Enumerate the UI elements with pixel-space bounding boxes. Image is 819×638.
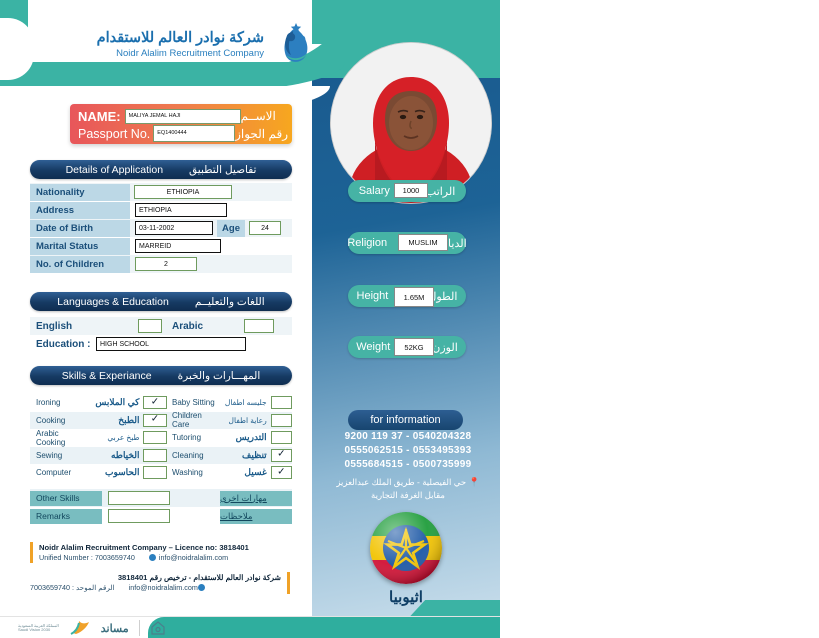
table-row-skill: Arabic Cooking طبخ عربي Tutoring التدريس [30,429,292,447]
nationality-input[interactable]: ETHIOPIA [134,185,232,199]
marital-label: Marital Status [30,238,130,255]
vision-2030-icon [69,620,91,636]
footer-email-text: info@noidralalim.com [159,553,228,562]
skill-computer-label-ar: الحاسوب [85,467,143,478]
email-icon [198,584,205,591]
company-name-en: Noidr Alalim Recruitment Company [78,48,264,59]
footer-contact-ar: info@noidralalim.com الرقم الموحد : 7003… [30,583,281,593]
weight-pill: Weight الوزن 52KG [348,336,466,358]
footer-email-en[interactable]: info@noidralalim.com [149,553,228,563]
address-text-1: حي الفيصلية - طريق الملك عبدالعزيز [336,477,466,487]
skill-cleaning-label-ar: تنظيف [221,450,271,461]
office-address-line-2: مقابل الغرفة التجارية [322,489,494,501]
table-row-skill: Computer الحاسوب Washing غسيل ✓ [30,464,292,482]
footer-english: Noidr Alalim Recruitment Company – Licen… [30,542,290,563]
age-label: Age [217,220,245,237]
footer: Noidr Alalim Recruitment Company – Licen… [30,542,290,594]
table-row-dob: Date of Birth 03-11-2002 Age 24 [30,219,292,237]
table-row-children: No. of Children 2 [30,255,292,273]
check-icon: ✓ [151,397,159,407]
arabic-label: Arabic [162,318,244,335]
height-label: Height [357,290,389,302]
name-band: NAME: MALIYA JEMAL HAJI الاســم Passport… [70,104,292,144]
musaned-label-ar: مساند [101,622,129,635]
applicant-photo-image [331,43,491,203]
skill-cooking-checkbox[interactable]: ✓ [143,414,166,427]
contact-phones: 9200 119 37 - 0540204328 0555062515 - 05… [322,430,494,501]
passport-label-ar: رقم الجواز [235,127,292,141]
languages-title-ar: اللغات والتعليــم [195,296,265,308]
marital-input[interactable]: MARREID [135,239,221,253]
company-logo: شركة نوادر العالم للاستقدام Noidr Alalim… [78,22,318,68]
cv-document: شركة نوادر العالم للاستقدام Noidr Alalim… [0,0,819,638]
footer-unified-en: Unified Number : 7003659740 [39,553,135,563]
passport-row: Passport No. EQ1400444 رقم الجواز [70,125,292,142]
for-information-header: for information [348,410,463,430]
salary-pill: Salary الراتب 1000 [348,180,466,202]
office-address-line-1: 📍 حي الفيصلية - طريق الملك عبدالعزيز [322,476,494,489]
location-pin-icon: 📍 [468,476,479,489]
skill-washing-label: Washing [170,468,221,477]
skill-childrencare-label: Children Care [170,411,221,429]
dob-label: Date of Birth [30,220,130,237]
details-title-en: Details of Application [66,164,163,176]
skill-tutoring-label: Tutoring [170,433,221,442]
strip-logos: المملكة العربية السعودية Saudi Vision 20… [18,620,166,636]
name-input[interactable]: MALIYA JEMAL HAJI [125,109,241,124]
musaned-house-icon [150,620,166,636]
table-row-languages: English Arabic [30,317,292,335]
table-row-nationality: Nationality ETHIOPIA [30,183,292,201]
footer-arabic: شركة نوادر العالم للاستقدام - ترخيص رقم … [30,572,290,593]
table-row-address: Address ETHIOPIA [30,201,292,219]
religion-input[interactable]: MUSLIM [398,234,448,251]
table-row-skill: Sewing الخياطه Cleaning تنظيف ✓ [30,447,292,465]
skill-childrencare-label-ar: رعاية اطفال [221,416,271,425]
weight-label: Weight [356,341,390,353]
skill-arabiccooking-checkbox[interactable] [143,431,166,444]
footer-contact-en: Unified Number : 7003659740 info@noidral… [39,553,290,563]
passport-label: Passport No. [70,127,150,141]
skill-washing-checkbox[interactable]: ✓ [271,466,292,479]
weight-label-ar: الوزن [432,341,457,354]
section-header-languages: Languages & Education اللغات والتعليــم [30,292,292,311]
skill-tutoring-label-ar: التدريس [221,432,271,443]
remarks-input[interactable] [108,509,170,523]
email-icon [149,554,156,561]
address-input[interactable]: ETHIOPIA [135,203,227,217]
religion-label: Religion [347,237,387,249]
bottom-strip: المملكة العربية السعودية Saudi Vision 20… [0,616,500,638]
company-name-ar: شركة نوادر العالم للاستقدام [78,30,264,47]
skill-arabiccooking-label: Arabic Cooking [30,429,85,447]
table-row-education: Education : HIGH SCHOOL [30,335,292,353]
footer-unified-ar: الرقم الموحد : 7003659740 [30,583,115,593]
name-row: NAME: MALIYA JEMAL HAJI الاســم [70,107,292,125]
panel-teal-top [312,0,500,44]
salary-input[interactable]: 1000 [394,183,428,198]
footer-email-ar[interactable]: info@noidralalim.com [129,583,208,593]
skill-babysitting-checkbox[interactable] [271,396,292,409]
footer-licence-ar: شركة نوادر العالم للاستقدام - ترخيص رقم … [30,572,281,583]
height-input[interactable]: 1.65M [394,287,434,307]
check-icon: ✓ [277,467,285,477]
details-table: Nationality ETHIOPIA Address ETHIOPIA Da… [30,183,292,273]
other-skills-label: Other Skills [30,491,102,506]
children-input[interactable]: 2 [135,257,197,271]
vision-en: Saudi Vision 2030 [18,628,59,632]
table-row-remarks: Remarks ملاحظات [30,507,292,525]
skill-sewing-label-ar: الخياطه [85,450,143,461]
skill-babysitting-label: Baby Sitting [170,398,221,407]
skill-sewing-label: Sewing [30,451,85,460]
remarks-label-ar: ملاحظات [220,509,292,524]
skill-sewing-checkbox[interactable] [143,449,166,462]
children-label: No. of Children [30,256,130,273]
section-header-details: Details of Application تفاصيل التطبيق [30,160,292,179]
footer-licence-en: Noidr Alalim Recruitment Company – Licen… [39,542,290,553]
education-input[interactable]: HIGH SCHOOL [96,337,246,351]
skill-ironing-checkbox[interactable]: ✓ [143,396,166,409]
phone-line-1[interactable]: 9200 119 37 - 0540204328 [322,430,494,444]
skills-title-en: Skills & Experiance [62,370,152,382]
vision-logo-text: المملكة العربية السعودية Saudi Vision 20… [18,624,59,633]
skill-arabiccooking-label-ar: طبخ عربي [85,433,143,442]
education-label: Education : [30,336,92,353]
table-row-skill: Ironing كي الملابس ✓ Baby Sitting جليسه … [30,394,292,412]
religion-pill: Religion الديانة MUSLIM [348,232,466,254]
skills-table: Ironing كي الملابس ✓ Baby Sitting جليسه … [30,394,292,482]
salary-label-ar: الراتب [426,185,455,198]
skill-childrencare-checkbox[interactable] [271,414,292,427]
dob-input[interactable]: 03-11-2002 [135,221,213,235]
english-input[interactable] [138,319,162,333]
check-icon: ✓ [277,450,285,460]
other-skills-table: Other Skills مهارات اخرى Remarks ملاحظات [30,489,292,525]
skill-babysitting-label-ar: جليسه اطفال [221,398,271,407]
skill-ironing-label: Ironing [30,398,85,407]
languages-title-en: Languages & Education [57,296,169,308]
skills-title-ar: المهـــارات والخبرة [178,370,261,382]
salary-label: Salary [359,185,390,197]
passport-input[interactable]: EQ1400444 [153,125,235,142]
cv-sheet: شركة نوادر العالم للاستقدام Noidr Alalim… [0,0,500,638]
table-row-other-skills: Other Skills مهارات اخرى [30,489,292,507]
strip-divider [139,620,140,636]
age-input[interactable]: 24 [249,221,281,235]
phone-line-2[interactable]: 0555062515 - 0553495393 [322,444,494,458]
skill-cleaning-label: Cleaning [170,451,221,460]
table-row-skill: Cooking الطبخ ✓ Children Care رعاية اطفا… [30,412,292,430]
skill-cooking-label-ar: الطبخ [85,415,143,426]
skill-computer-label: Computer [30,468,85,477]
footer-email-ar-text: info@noidralalim.com [129,583,198,592]
check-icon: ✓ [151,415,159,425]
ethiopia-flag-icon [370,512,442,584]
section-header-skills: Skills & Experiance المهـــارات والخبرة [30,366,292,385]
table-row-marital: Marital Status MARREID [30,237,292,255]
skill-washing-label-ar: غسيل [221,467,271,478]
other-skills-input[interactable] [108,491,170,505]
height-pill: Height الطول 1.65M [348,285,466,307]
details-title-ar: تفاصيل التطبيق [189,164,256,176]
company-logo-mark-icon [272,22,318,68]
weight-input[interactable]: 52KG [394,338,434,356]
skill-cleaning-checkbox[interactable]: ✓ [271,449,292,462]
name-label-ar: الاســم [241,109,280,123]
nationality-label: Nationality [30,184,130,201]
country-name-ar: اثيوبيا [348,588,464,606]
remarks-label: Remarks [30,509,102,524]
address-label: Address [30,202,130,219]
strip-teal-block [148,617,500,638]
other-skills-label-ar: مهارات اخرى [220,491,292,506]
phone-line-3[interactable]: 0555684515 - 0500735999 [322,458,494,472]
english-label: English [30,318,138,335]
skill-computer-checkbox[interactable] [143,466,166,479]
skill-ironing-label-ar: كي الملابس [85,397,143,408]
name-label: NAME: [70,109,121,124]
languages-table: English Arabic Education : HIGH SCHOOL [30,317,292,353]
arabic-input[interactable] [244,319,274,333]
skill-cooking-label: Cooking [30,416,85,425]
skill-tutoring-checkbox[interactable] [271,431,292,444]
